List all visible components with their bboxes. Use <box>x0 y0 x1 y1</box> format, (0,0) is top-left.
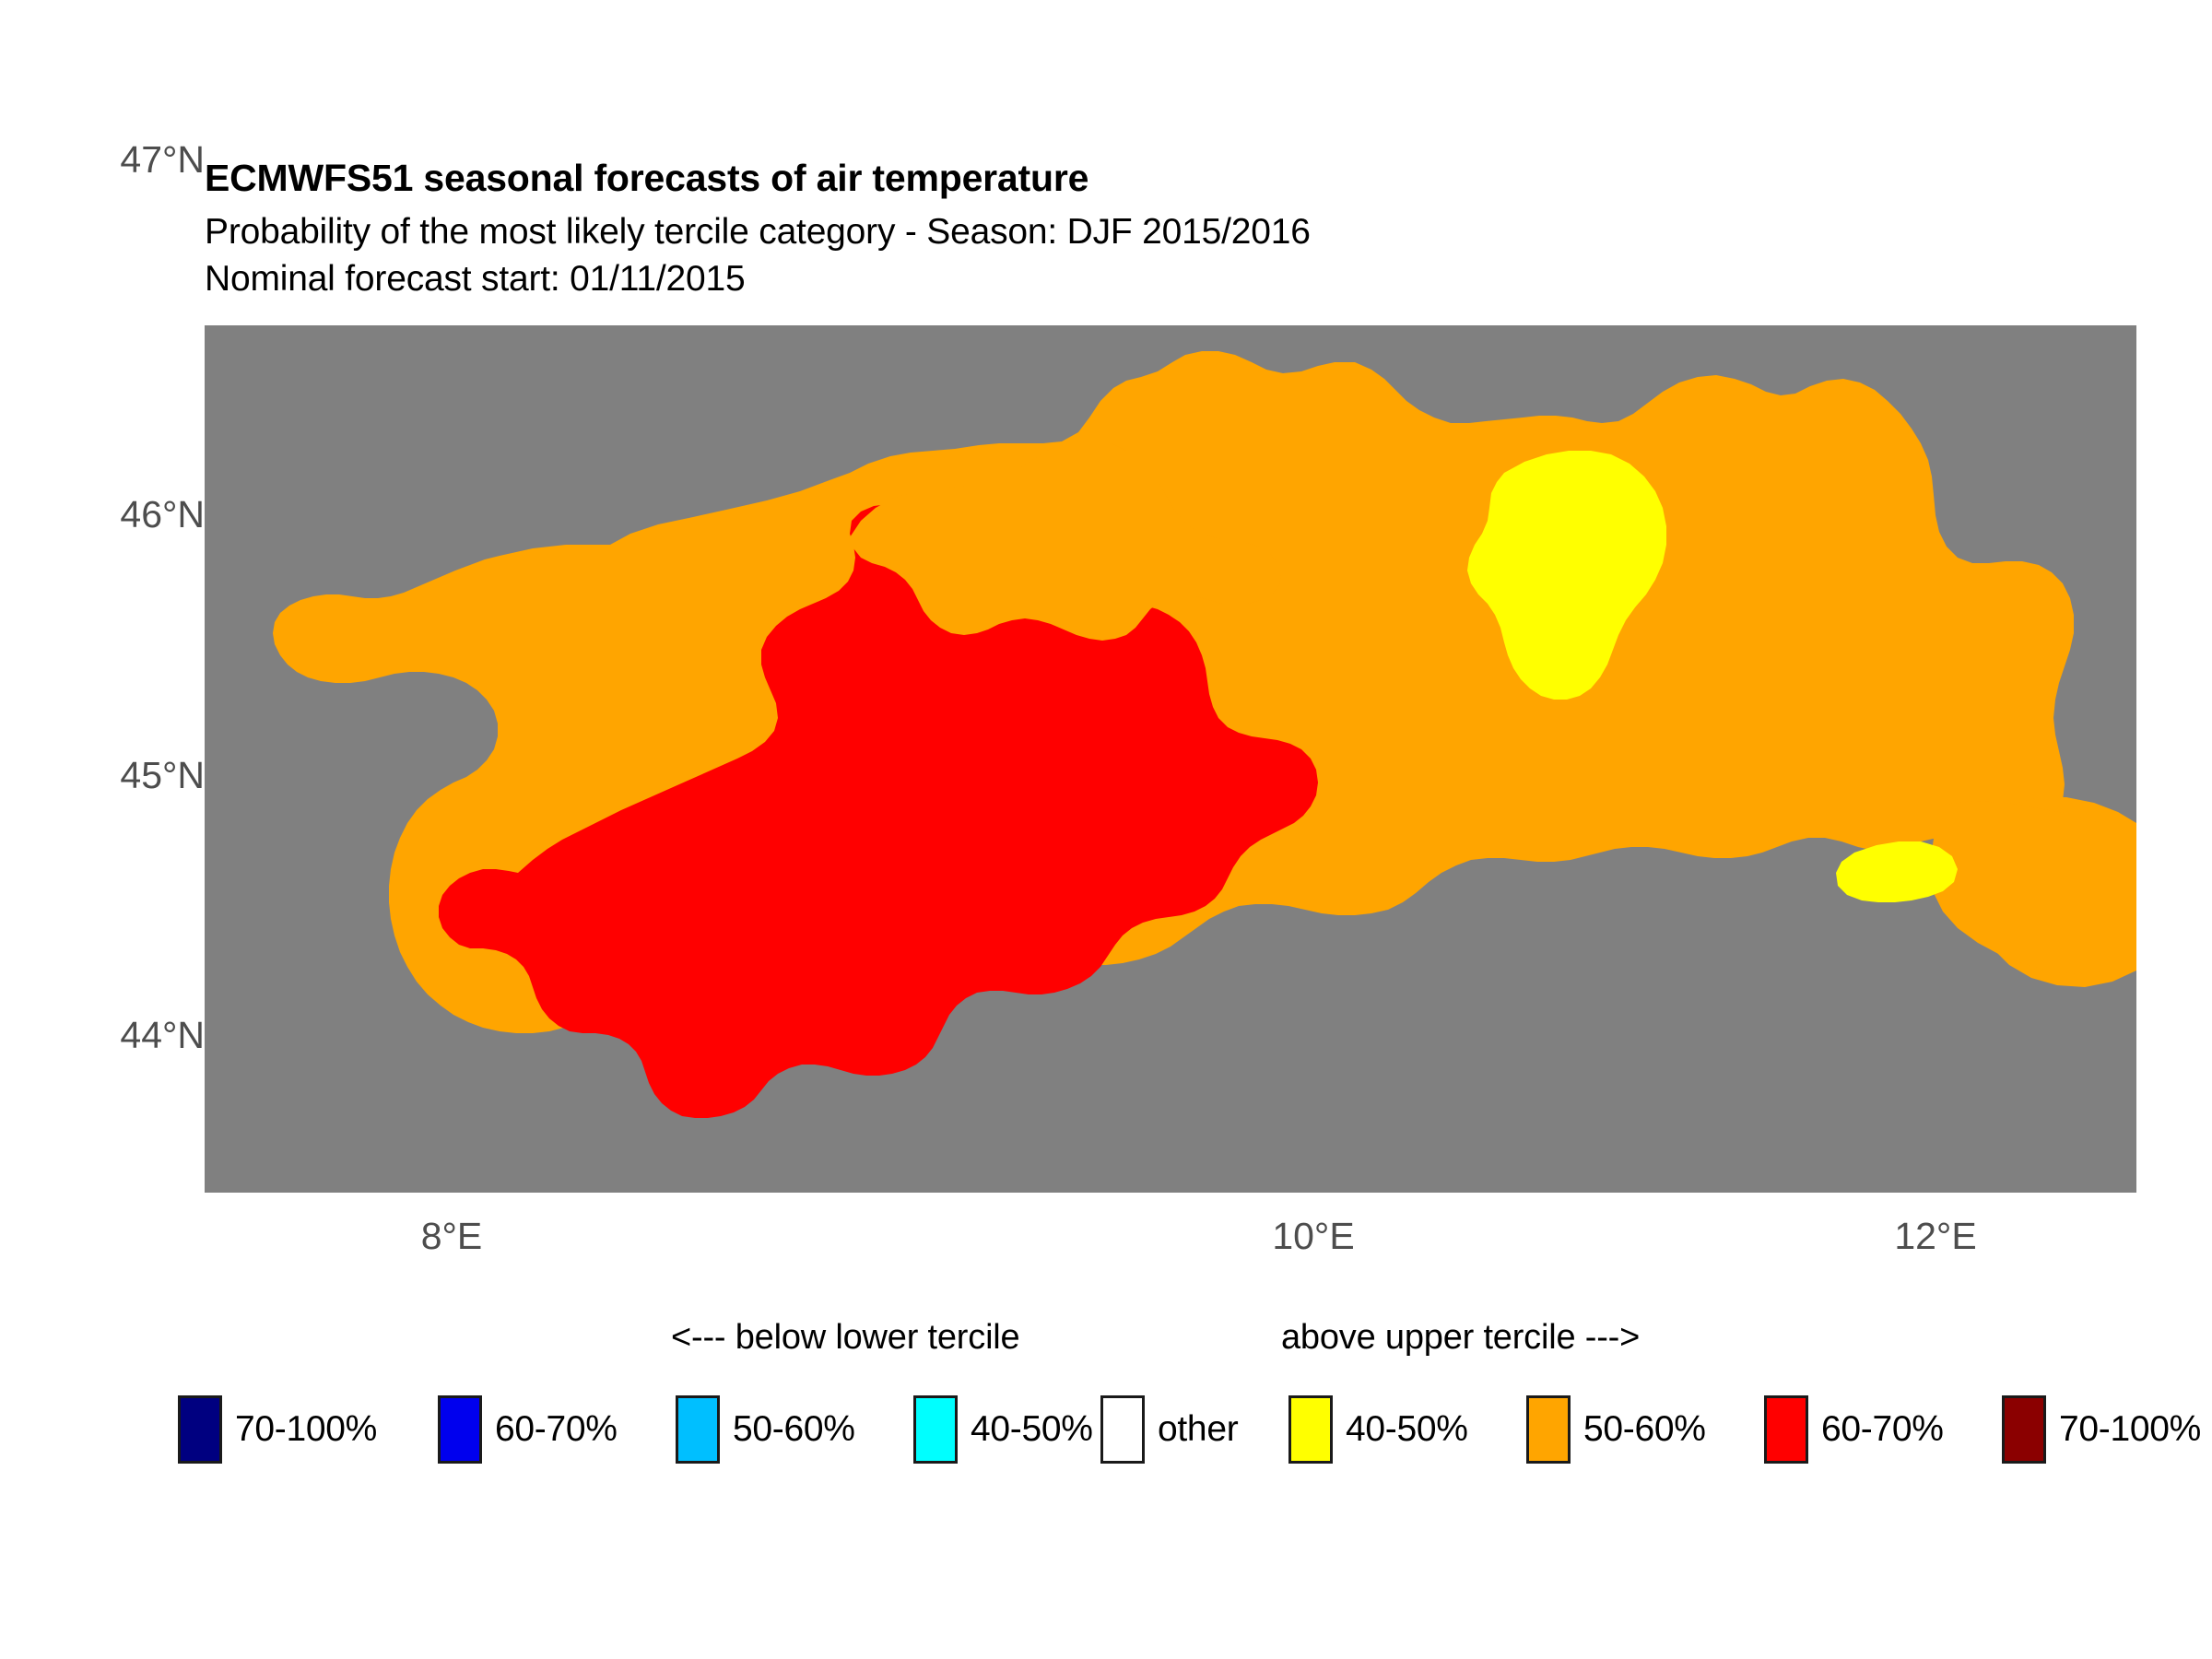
legend-entry-below-60-70[interactable]: 60-70% <box>438 1388 618 1471</box>
legend-label-above-60-70: 60-70% <box>1821 1409 1944 1450</box>
legend-label-above-40-50: 40-50% <box>1346 1409 1468 1450</box>
legend-entry-above-70-100[interactable]: 70-100% <box>2002 1388 2201 1471</box>
legend-swatch-below-60-70 <box>438 1395 482 1464</box>
legend-entry-below-40-50[interactable]: 40-50% <box>913 1388 1093 1471</box>
y-axis-tick-47N: 47°N <box>120 138 205 182</box>
legend-label-below-50-60: 50-60% <box>733 1409 855 1450</box>
legend-label-below-60-70: 60-70% <box>495 1409 618 1450</box>
subtitle-forecast-start: Nominal forecast start: 01/11/2015 <box>205 258 2140 301</box>
subtitle-season: Probability of the most likely tercile c… <box>205 211 2140 254</box>
chart-title-block: ECMWFS51 seasonal forecasts of air tempe… <box>205 155 2140 301</box>
x-axis-tick-10E: 10°E <box>1221 1215 1406 1258</box>
legend-label-below-70-100: 70-100% <box>235 1409 377 1450</box>
legend-label-above-70-100: 70-100% <box>2059 1409 2201 1450</box>
legend-entry-above-50-60[interactable]: 50-60% <box>1526 1388 1706 1471</box>
tercile-legend: <--- below lower tercile above upper ter… <box>0 1318 2212 1370</box>
y-axis-tick-45N: 45°N <box>120 754 205 797</box>
legend-entry-above-60-70[interactable]: 60-70% <box>1764 1388 1944 1471</box>
legend-swatch-below-40-50 <box>913 1395 958 1464</box>
forecast-map-svg <box>205 325 2136 1193</box>
legend-header-below-lower-tercile: <--- below lower tercile <box>671 1318 1019 1358</box>
legend-swatch-above-40-50 <box>1288 1395 1333 1464</box>
forecast-map-panel[interactable] <box>205 325 2136 1193</box>
legend-label-other: other <box>1158 1409 1238 1450</box>
legend-entry-other[interactable]: other <box>1100 1388 1238 1471</box>
legend-entry-above-40-50[interactable]: 40-50% <box>1288 1388 1468 1471</box>
legend-entries-row: 70-100% 60-70% 50-60% 40-50% other 40-50… <box>0 1388 2212 1471</box>
legend-label-below-40-50: 40-50% <box>971 1409 1093 1450</box>
legend-swatch-other <box>1100 1395 1145 1464</box>
legend-headers: <--- below lower tercile above upper ter… <box>0 1318 2212 1370</box>
x-axis-tick-12E: 12°E <box>1843 1215 2028 1258</box>
legend-swatch-above-70-100 <box>2002 1395 2046 1464</box>
legend-swatch-above-50-60 <box>1526 1395 1571 1464</box>
legend-entry-below-70-100[interactable]: 70-100% <box>178 1388 377 1471</box>
page-title: ECMWFS51 seasonal forecasts of air tempe… <box>205 155 2140 201</box>
y-axis-tick-46N: 46°N <box>120 493 205 536</box>
legend-swatch-below-70-100 <box>178 1395 222 1464</box>
legend-header-above-upper-tercile: above upper tercile ---> <box>1281 1318 1640 1358</box>
legend-label-above-50-60: 50-60% <box>1583 1409 1706 1450</box>
y-axis-tick-44N: 44°N <box>120 1014 205 1057</box>
legend-entry-below-50-60[interactable]: 50-60% <box>676 1388 855 1471</box>
legend-swatch-above-60-70 <box>1764 1395 1808 1464</box>
x-axis-tick-8E: 8°E <box>359 1215 544 1258</box>
legend-swatch-below-50-60 <box>676 1395 720 1464</box>
